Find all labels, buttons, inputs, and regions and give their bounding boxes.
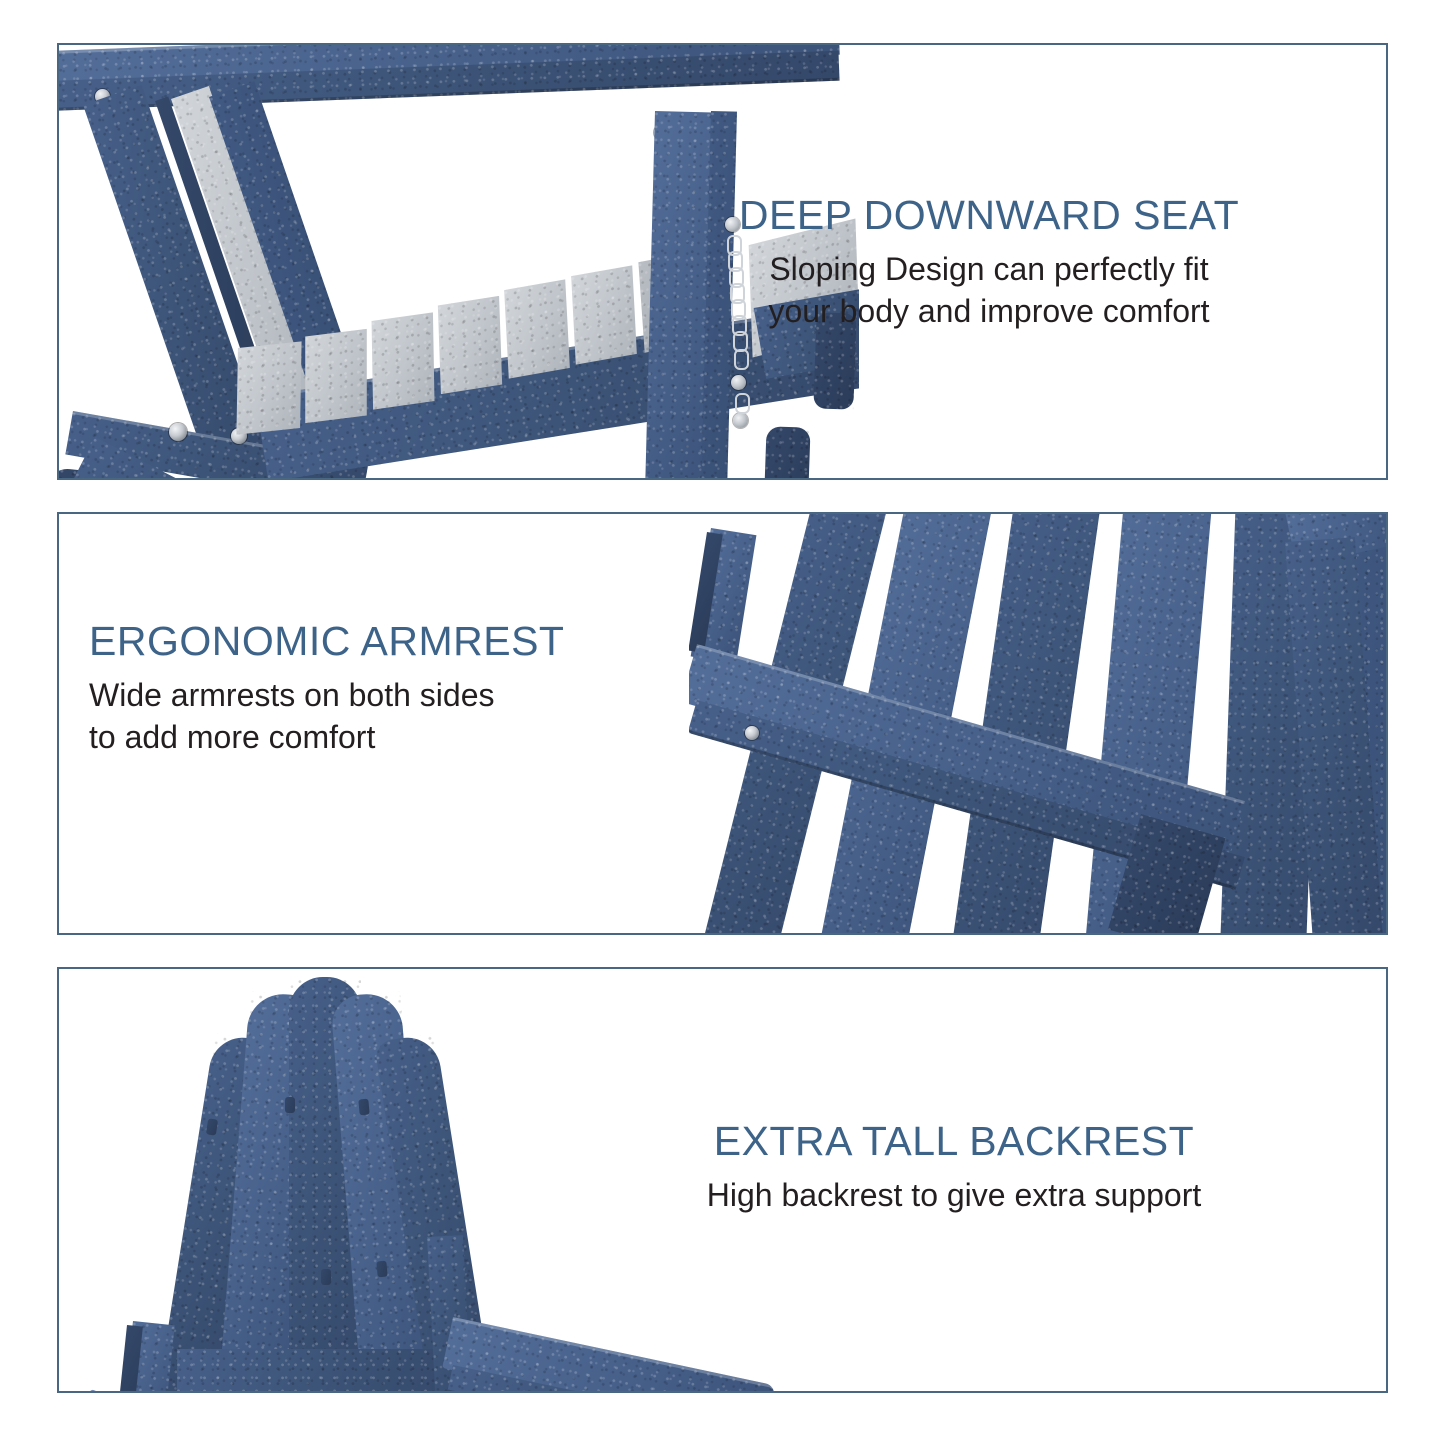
chain-link-icon	[734, 349, 749, 370]
feature-description: High backrest to give extra support	[559, 1175, 1349, 1217]
infographic-canvas: DEEP DOWNWARD SEAT Sloping Design can pe…	[0, 0, 1445, 1445]
feature-text-extra-tall-backrest: EXTRA TALL BACKREST High backrest to giv…	[559, 1119, 1349, 1217]
screw-icon	[745, 726, 759, 740]
feature-description: Wide armrests on both sides to add more …	[89, 675, 689, 758]
feature-heading: EXTRA TALL BACKREST	[559, 1119, 1349, 1165]
feature-panel-deep-downward-seat: DEEP DOWNWARD SEAT Sloping Design can pe…	[57, 43, 1388, 480]
description-line: to add more comfort	[89, 717, 689, 759]
feature-description: Sloping Design can perfectly fit your bo…	[619, 249, 1359, 332]
feature-panel-ergonomic-armrest: ERGONOMIC ARMREST Wide armrests on both …	[57, 512, 1388, 935]
description-line: Sloping Design can perfectly fit	[619, 249, 1359, 291]
feature-panel-extra-tall-backrest: EXTRA TALL BACKREST High backrest to giv…	[57, 967, 1388, 1393]
feature-heading: DEEP DOWNWARD SEAT	[619, 193, 1359, 239]
chain-eye-bolt-icon	[733, 413, 748, 428]
product-photo-ergonomic-armrest	[689, 514, 1386, 933]
feature-heading: ERGONOMIC ARMREST	[89, 619, 689, 665]
feature-text-ergonomic-armrest: ERGONOMIC ARMREST Wide armrests on both …	[89, 619, 689, 758]
description-line: your body and improve comfort	[619, 291, 1359, 333]
feature-text-deep-downward-seat: DEEP DOWNWARD SEAT Sloping Design can pe…	[619, 193, 1359, 332]
description-line: High backrest to give extra support	[559, 1175, 1349, 1217]
chain-link-icon	[735, 393, 750, 414]
description-line: Wide armrests on both sides	[89, 675, 689, 717]
chain-eye-bolt-icon	[731, 375, 746, 390]
screw-icon	[169, 423, 187, 441]
